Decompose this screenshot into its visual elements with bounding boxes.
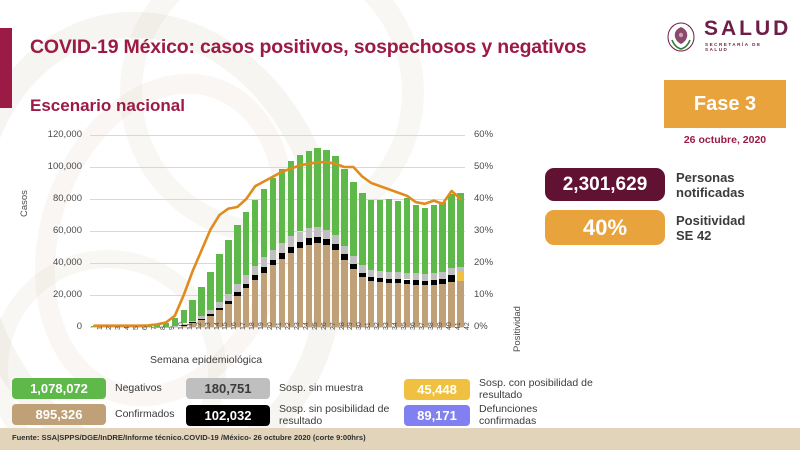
chart-legend: 1,078,072 Negativos 895,326 Confirmados … [0,376,800,428]
stat-personas-notificadas: 2,301,629 Personas notificadas [545,168,745,201]
y-tick-left: 0 [26,321,82,332]
x-tick: 36 [410,322,417,330]
x-tick: 17 [240,322,247,330]
stat-label-line1: Personas [676,170,745,185]
x-tick: 37 [419,322,426,330]
x-tick: 32 [374,322,381,330]
x-tick: 38 [428,322,435,330]
x-tick: 26 [321,322,328,330]
legend-label: Sosp. sin posibilidad de resultado [279,404,389,427]
positivity-line [90,135,465,327]
legend-label-line1: Sosp. sin posibilidad de [279,404,389,416]
legend-item-sosp-con-posibilidad: 45,448 Sosp. con posibilidad de resultad… [404,378,593,401]
stat-label: Personas notificadas [676,170,745,200]
x-tick: 21 [276,322,283,330]
x-tick: 27 [330,322,337,330]
legend-label: Negativos [115,383,162,395]
legend-value: 45,448 [417,382,457,397]
y-tick-left: 40,000 [26,257,82,268]
left-accent-bar [0,28,12,108]
x-tick: 5 [133,326,140,330]
legend-value: 102,032 [205,408,252,423]
legend-item-sosp-sin-posibilidad: 102,032 Sosp. sin posibilidad de resulta… [186,404,389,427]
mexican-coat-of-arms-icon [664,20,698,54]
legend-value: 89,171 [417,408,457,423]
positivity-line-path [94,162,460,326]
y-tick-right: 20% [474,257,514,268]
salud-logo-subtext: SECRETARÍA DE SALUD [705,42,784,52]
y-tick-left: 100,000 [26,161,82,172]
legend-label: Sosp. con posibilidad de resultado [479,378,593,401]
x-tick: 42 [464,322,471,330]
x-tick: 14 [214,322,221,330]
y-tick-right: 50% [474,161,514,172]
legend-chip: 89,171 [404,405,470,426]
y-tick-left: 80,000 [26,193,82,204]
stat-label-line2: notificadas [676,185,745,200]
stat-positividad: 40% Positividad SE 42 [545,210,745,245]
x-tick: 23 [294,322,301,330]
x-tick: 22 [285,322,292,330]
x-tick: 7 [151,326,158,330]
legend-label: Sosp. sin muestra [279,383,363,395]
x-tick: 18 [249,322,256,330]
x-axis-label: Semana epidemiológica [150,354,262,366]
x-tick: 24 [303,322,310,330]
stat-label-line2: SE 42 [676,228,745,243]
y-tick-right: 0% [474,321,514,332]
y-tick-right: 10% [474,289,514,300]
x-tick: 35 [401,322,408,330]
x-tick: 40 [446,322,453,330]
legend-label-line2: resultado [279,416,389,428]
legend-value: 180,751 [205,381,252,396]
legend-chip: 895,326 [12,404,106,425]
legend-label: Confirmados [115,409,175,421]
legend-chip: 1,078,072 [12,378,106,399]
x-tick: 3 [115,326,122,330]
y-tick-right: 40% [474,193,514,204]
x-tick: 19 [258,322,265,330]
legend-item-confirmados: 895,326 Confirmados [12,404,175,425]
y-tick-left: 60,000 [26,225,82,236]
x-tick: 33 [383,322,390,330]
report-date: 26 octubre, 2020 [664,134,786,146]
x-tick: 11 [187,323,194,330]
x-tick: 13 [205,322,212,330]
x-tick: 8 [160,326,167,330]
legend-value: 1,078,072 [30,381,88,396]
stat-value-pill: 2,301,629 [545,168,665,201]
legend-item-sosp-sin-muestra: 180,751 Sosp. sin muestra [186,378,363,399]
legend-label-line1: Defunciones [479,404,537,416]
x-tick: 12 [196,322,203,330]
stat-label-line1: Positividad [676,213,745,228]
x-tick: 31 [365,322,372,330]
stat-label: Positividad SE 42 [676,213,745,243]
legend-item-negativos: 1,078,072 Negativos [12,378,162,399]
legend-value: 895,326 [36,407,83,422]
y-tick-left: 20,000 [26,289,82,300]
stat-value: 40% [583,215,627,241]
legend-label: Defunciones confirmadas [479,404,537,427]
legend-chip: 180,751 [186,378,270,399]
y-tick-right: 30% [474,225,514,236]
x-tick: 30 [356,322,363,330]
page-subtitle: Escenario nacional [30,96,185,116]
legend-chip: 45,448 [404,379,470,400]
x-tick: 6 [142,326,149,330]
x-tick: 34 [392,322,399,330]
x-tick: 10 [178,322,185,330]
x-tick: 29 [347,322,354,330]
y-tick-left: 120,000 [26,129,82,140]
legend-label-line1: Sosp. con posibilidad de [479,378,593,390]
x-tick: 41 [455,322,462,330]
x-tick: 25 [312,322,319,330]
phase-badge-label: Fase 3 [694,93,756,116]
x-tick: 15 [222,322,229,330]
x-tick: 4 [124,326,131,330]
stat-value-pill: 40% [545,210,665,245]
y-tick-right: 60% [474,129,514,140]
x-tick: 9 [169,326,176,330]
page-title: COVID-19 México: casos positivos, sospec… [30,36,590,59]
phase-badge: Fase 3 [664,80,786,128]
stat-value: 2,301,629 [563,174,648,196]
x-tick: 28 [339,322,346,330]
x-tick: 16 [231,322,238,330]
epidemic-curve-chart: Casos Positividad Semana epidemiológica … [0,122,540,372]
x-tick: 1 [97,326,104,330]
salud-logo-text: SALUD [704,18,791,40]
legend-chip: 102,032 [186,405,270,426]
x-tick: 39 [437,322,444,330]
legend-label-line2: resultado [479,390,593,402]
salud-logo: SALUD SECRETARÍA DE SALUD [664,20,784,56]
source-note: Fuente: SSA|SPPS/DGE/InDRE/Informe técni… [12,433,366,442]
x-tick: 20 [267,322,274,330]
legend-item-defunciones: 89,171 Defunciones confirmadas [404,404,537,427]
x-tick: 2 [106,326,113,330]
legend-label-line2: confirmadas [479,416,537,428]
